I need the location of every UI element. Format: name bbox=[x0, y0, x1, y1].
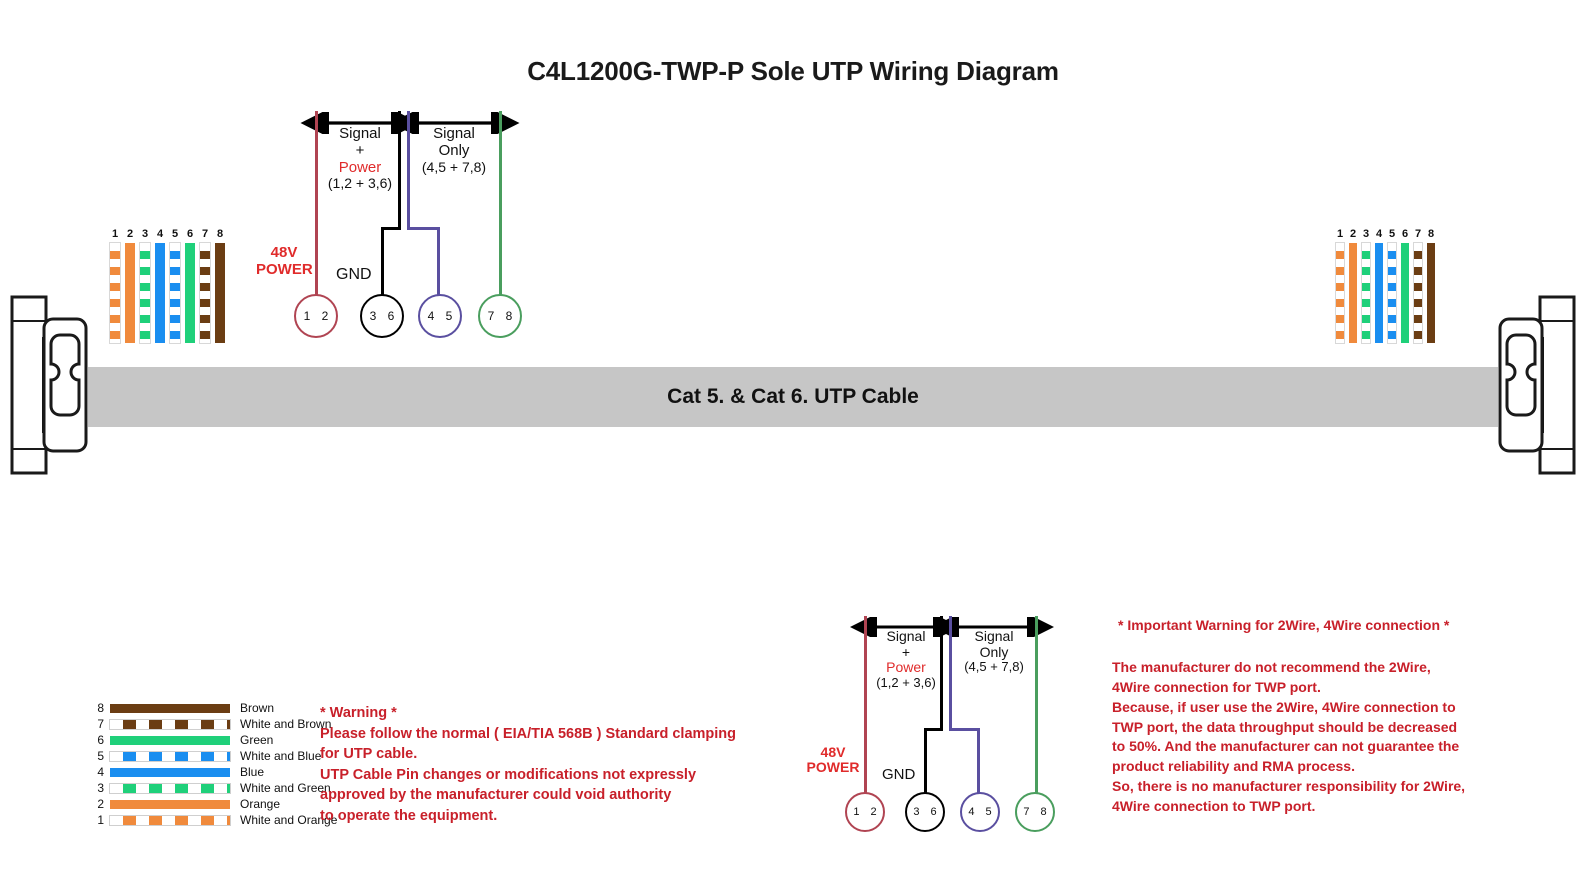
wire-pin-8: 8 bbox=[215, 228, 225, 343]
signal-power-label: Signal + Power (1,2 + 3,6) bbox=[320, 126, 400, 192]
wire-bar-4 bbox=[1375, 243, 1383, 343]
wire-bars-right: 12345678 bbox=[1336, 228, 1440, 343]
legend-pin-number: 4 bbox=[88, 765, 104, 779]
warning-line: So, there is no manufacturer responsibil… bbox=[1112, 777, 1512, 797]
pin-circle-gnd: 3 6 bbox=[905, 792, 945, 832]
wire-color-legend: 8Brown7White and Brown6Green5White and B… bbox=[88, 700, 337, 828]
warning-line: UTP Cable Pin changes or modifications n… bbox=[320, 765, 790, 786]
warning-line: The manufacturer do not recommend the 2W… bbox=[1112, 658, 1512, 678]
legend-label: Orange bbox=[240, 797, 280, 811]
signal-elbow-horizontal bbox=[949, 728, 980, 731]
legend-label: White and Blue bbox=[240, 749, 321, 763]
wire-pin-number: 8 bbox=[217, 228, 223, 240]
wire-pin-1: 1 bbox=[110, 228, 120, 343]
wire-bar-7 bbox=[1414, 243, 1422, 343]
legend-color-swatch bbox=[110, 720, 230, 729]
wire-bar-2 bbox=[1349, 243, 1357, 343]
legend-label: Brown bbox=[240, 701, 274, 715]
cable-band-label: Cat 5. & Cat 6. UTP Cable bbox=[88, 367, 1498, 427]
span-arrows-bottom bbox=[806, 617, 1086, 637]
wire-pin-number: 3 bbox=[142, 228, 148, 240]
legend-label: White and Green bbox=[240, 781, 331, 795]
signal-elbow-vertical bbox=[977, 728, 980, 795]
signal-elbow-vertical bbox=[437, 227, 440, 297]
legend-label: Green bbox=[240, 733, 273, 747]
warning-heading: * Important Warning for 2Wire, 4Wire con… bbox=[1112, 616, 1512, 636]
legend-row: 3White and Green bbox=[88, 780, 337, 796]
legend-color-swatch bbox=[110, 704, 230, 713]
legend-label: White and Brown bbox=[240, 717, 331, 731]
wire-pin-6: 6 bbox=[185, 228, 195, 343]
wire-pin-number: 1 bbox=[112, 228, 118, 240]
wire-pin-number: 6 bbox=[1402, 228, 1408, 240]
warning-right: * Important Warning for 2Wire, 4Wire con… bbox=[1112, 616, 1512, 817]
wire-bar-1 bbox=[110, 243, 120, 343]
gnd-elbow-horizontal bbox=[381, 227, 401, 230]
wire-bar-8 bbox=[1427, 243, 1435, 343]
pin-circle-signal-only: 7 8 bbox=[478, 294, 522, 338]
legend-row: 6Green bbox=[88, 732, 337, 748]
warning-line: to 50%. And the manufacturer can not gua… bbox=[1112, 737, 1512, 757]
wire-pin-3: 3 bbox=[1362, 228, 1370, 343]
power-48v-label: 48V POWER bbox=[805, 745, 861, 776]
legend-pin-number: 3 bbox=[88, 781, 104, 795]
span-arrows-top bbox=[258, 112, 548, 134]
wire-pin-2: 2 bbox=[1349, 228, 1357, 343]
wire-pin-number: 2 bbox=[1350, 228, 1356, 240]
legend-color-swatch bbox=[110, 784, 230, 793]
wire-bar-5 bbox=[1388, 243, 1396, 343]
rj45-connector-right bbox=[1493, 293, 1586, 478]
gnd-label: GND bbox=[336, 266, 372, 284]
legend-row: 4Blue bbox=[88, 764, 337, 780]
power-48v-label: 48V POWER bbox=[256, 245, 312, 278]
legend-row: 1White and Orange bbox=[88, 812, 337, 828]
pin-circle-power: 1 2 bbox=[294, 294, 338, 338]
signal-only-rail-line bbox=[499, 111, 502, 297]
signal-power-label: Signal + Power (1,2 + 3,6) bbox=[868, 629, 944, 691]
wire-pin-number: 5 bbox=[1389, 228, 1395, 240]
warning-line: to operate the equipment. bbox=[320, 806, 790, 827]
wire-bar-3 bbox=[140, 243, 150, 343]
wire-pin-number: 2 bbox=[127, 228, 133, 240]
wire-bar-2 bbox=[125, 243, 135, 343]
pin-circle-signal: 4 5 bbox=[960, 792, 1000, 832]
wire-pin-6: 6 bbox=[1401, 228, 1409, 343]
legend-color-swatch bbox=[110, 752, 230, 761]
wire-bar-1 bbox=[1336, 243, 1344, 343]
legend-pin-number: 5 bbox=[88, 749, 104, 763]
wire-pin-number: 6 bbox=[187, 228, 193, 240]
schematic-bottom: Signal + Power (1,2 + 3,6) Signal Only (… bbox=[806, 613, 1086, 828]
pin-circle-signal-only: 7 8 bbox=[1015, 792, 1055, 832]
warning-line: TWP port, the data throughput should be … bbox=[1112, 718, 1512, 738]
gnd-label: GND bbox=[882, 766, 915, 783]
wire-pin-2: 2 bbox=[125, 228, 135, 343]
gnd-elbow-vertical bbox=[381, 227, 384, 297]
warning-line: 4Wire connection for TWP port. bbox=[1112, 678, 1512, 698]
wire-pin-number: 7 bbox=[1415, 228, 1421, 240]
wire-bars-left: 12345678 bbox=[110, 228, 230, 343]
wire-pin-number: 5 bbox=[172, 228, 178, 240]
wire-bar-6 bbox=[1401, 243, 1409, 343]
warning-line: for UTP cable. bbox=[320, 744, 790, 765]
wire-pin-1: 1 bbox=[1336, 228, 1344, 343]
wire-pin-7: 7 bbox=[200, 228, 210, 343]
wire-pin-number: 4 bbox=[157, 228, 163, 240]
wire-pin-number: 8 bbox=[1428, 228, 1434, 240]
wire-bar-5 bbox=[170, 243, 180, 343]
wire-bar-4 bbox=[155, 243, 165, 343]
page-title: C4L1200G-TWP-P Sole UTP Wiring Diagram bbox=[0, 56, 1586, 87]
wire-pin-5: 5 bbox=[1388, 228, 1396, 343]
legend-pin-number: 2 bbox=[88, 797, 104, 811]
legend-pin-number: 7 bbox=[88, 717, 104, 731]
signal-only-label: Signal Only (4,5 + 7,8) bbox=[410, 126, 498, 175]
legend-color-swatch bbox=[110, 800, 230, 809]
power-rail-line bbox=[864, 616, 867, 794]
wire-pin-number: 4 bbox=[1376, 228, 1382, 240]
warning-line: Because, if user use the 2Wire, 4Wire co… bbox=[1112, 698, 1512, 718]
pin-circle-signal: 4 5 bbox=[418, 294, 462, 338]
wire-pin-7: 7 bbox=[1414, 228, 1422, 343]
legend-row: 2Orange bbox=[88, 796, 337, 812]
legend-color-swatch bbox=[110, 816, 230, 825]
wire-bar-8 bbox=[215, 243, 225, 343]
power-rail-line bbox=[315, 111, 318, 297]
wire-pin-4: 4 bbox=[155, 228, 165, 343]
legend-color-swatch bbox=[110, 768, 230, 777]
warning-line: product reliability and RMA process. bbox=[1112, 757, 1512, 777]
legend-row: 5White and Blue bbox=[88, 748, 337, 764]
signal-only-label: Signal Only (4,5 + 7,8) bbox=[952, 629, 1036, 675]
legend-row: 7White and Brown bbox=[88, 716, 337, 732]
warning-line: Please follow the normal ( EIA/TIA 568B … bbox=[320, 724, 790, 745]
legend-pin-number: 1 bbox=[88, 813, 104, 827]
wire-bar-3 bbox=[1362, 243, 1370, 343]
legend-color-swatch bbox=[110, 736, 230, 745]
schematic-top: Signal + Power (1,2 + 3,6) Signal Only (… bbox=[258, 108, 548, 330]
wire-bar-7 bbox=[200, 243, 210, 343]
wire-pin-3: 3 bbox=[140, 228, 150, 343]
signal-elbow-horizontal bbox=[407, 227, 440, 230]
pin-circle-power: 1 2 bbox=[845, 792, 885, 832]
warning-left: * Warning *Please follow the normal ( EI… bbox=[320, 703, 790, 826]
wire-bar-6 bbox=[185, 243, 195, 343]
wire-pin-number: 1 bbox=[1337, 228, 1343, 240]
warning-line: 4Wire connection to TWP port. bbox=[1112, 797, 1512, 817]
gnd-elbow-vertical bbox=[924, 728, 927, 795]
pin-circle-gnd: 3 6 bbox=[360, 294, 404, 338]
wire-pin-8: 8 bbox=[1427, 228, 1435, 343]
wire-pin-number: 7 bbox=[202, 228, 208, 240]
warning-heading: * Warning * bbox=[320, 703, 790, 724]
legend-pin-number: 8 bbox=[88, 701, 104, 715]
wire-pin-4: 4 bbox=[1375, 228, 1383, 343]
legend-row: 8Brown bbox=[88, 700, 337, 716]
wire-pin-number: 3 bbox=[1363, 228, 1369, 240]
rj45-connector-left bbox=[0, 293, 93, 478]
warning-line: approved by the manufacturer could void … bbox=[320, 785, 790, 806]
wire-pin-5: 5 bbox=[170, 228, 180, 343]
legend-label: Blue bbox=[240, 765, 264, 779]
legend-pin-number: 6 bbox=[88, 733, 104, 747]
